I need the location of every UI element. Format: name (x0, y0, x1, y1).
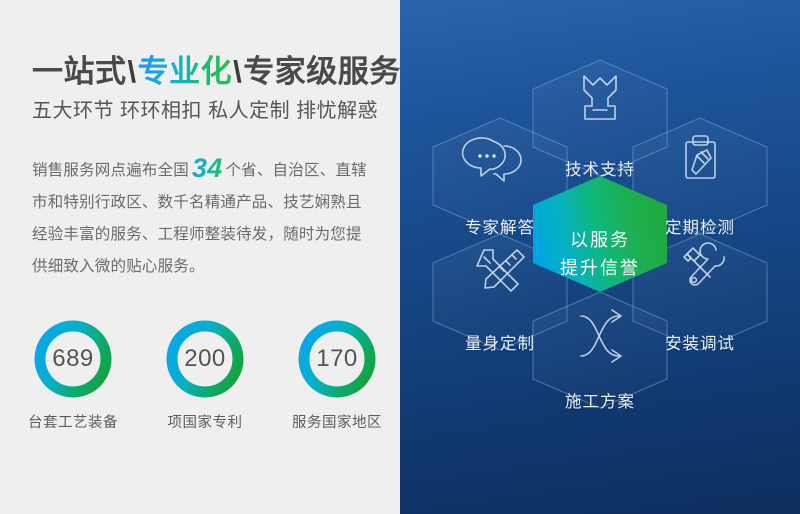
hex-label-installation-debugging: 安装调试 (665, 330, 735, 354)
stats-row: 689 台套工艺装备 (18, 318, 392, 432)
hexagon-diagram-panel: 技术支持 定期检测 安装调试 施工方案 量身定制 专家解答 以服务 提升信誉 (400, 0, 800, 514)
hex-label-periodic-inspection: 定期检测 (665, 214, 735, 238)
stat-value: 170 (296, 318, 378, 400)
stat-item: 170 服务国家地区 (282, 318, 392, 432)
headline: 一站式\专业化\专家级服务 (32, 56, 401, 87)
stat-item: 689 台套工艺装备 (18, 318, 128, 432)
headline-part-1: 一站式 (32, 54, 127, 89)
subheadline: 五大环节 环环相扣 私人定制 排忧解惑 (32, 99, 378, 123)
stat-value: 200 (164, 318, 246, 400)
headline-separator-2: \ (232, 54, 243, 89)
body-paragraph: 销售服务网点遍布全国34个省、自治区、直辖市和特别行政区、数千名精通产品、技艺娴… (32, 155, 377, 283)
stat-value: 689 (32, 318, 114, 400)
headline-accent: 专业化 (138, 54, 233, 89)
stat-label: 台套工艺装备 (28, 411, 118, 432)
center-slogan-line-2: 提升信誉 (560, 254, 640, 280)
headline-separator-1: \ (127, 54, 138, 89)
promo-banner: 一站式\专业化\专家级服务 五大环节 环环相扣 私人定制 排忧解惑 销售服务网点… (0, 0, 800, 514)
body-text-before: 销售服务网点遍布全国 (32, 162, 189, 179)
hex-label-tech-support: 技术支持 (565, 156, 635, 180)
province-count: 34 (189, 153, 225, 183)
center-slogan-line-1: 以服务 (570, 226, 630, 252)
stat-label: 服务国家地区 (292, 411, 382, 432)
left-content-panel: 一站式\专业化\专家级服务 五大环节 环环相扣 私人定制 排忧解惑 销售服务网点… (0, 0, 400, 514)
stat-label: 项国家专利 (168, 411, 243, 432)
hex-label-expert-answers: 专家解答 (465, 214, 535, 238)
progress-ring: 689 (32, 318, 114, 400)
headline-part-2: 专家级服务 (243, 54, 401, 89)
stat-item: 200 项国家专利 (150, 318, 260, 432)
progress-ring: 170 (296, 318, 378, 400)
progress-ring: 200 (164, 318, 246, 400)
hex-label-custom-tailoring: 量身定制 (465, 330, 535, 354)
hex-label-construction-plan: 施工方案 (565, 388, 635, 412)
